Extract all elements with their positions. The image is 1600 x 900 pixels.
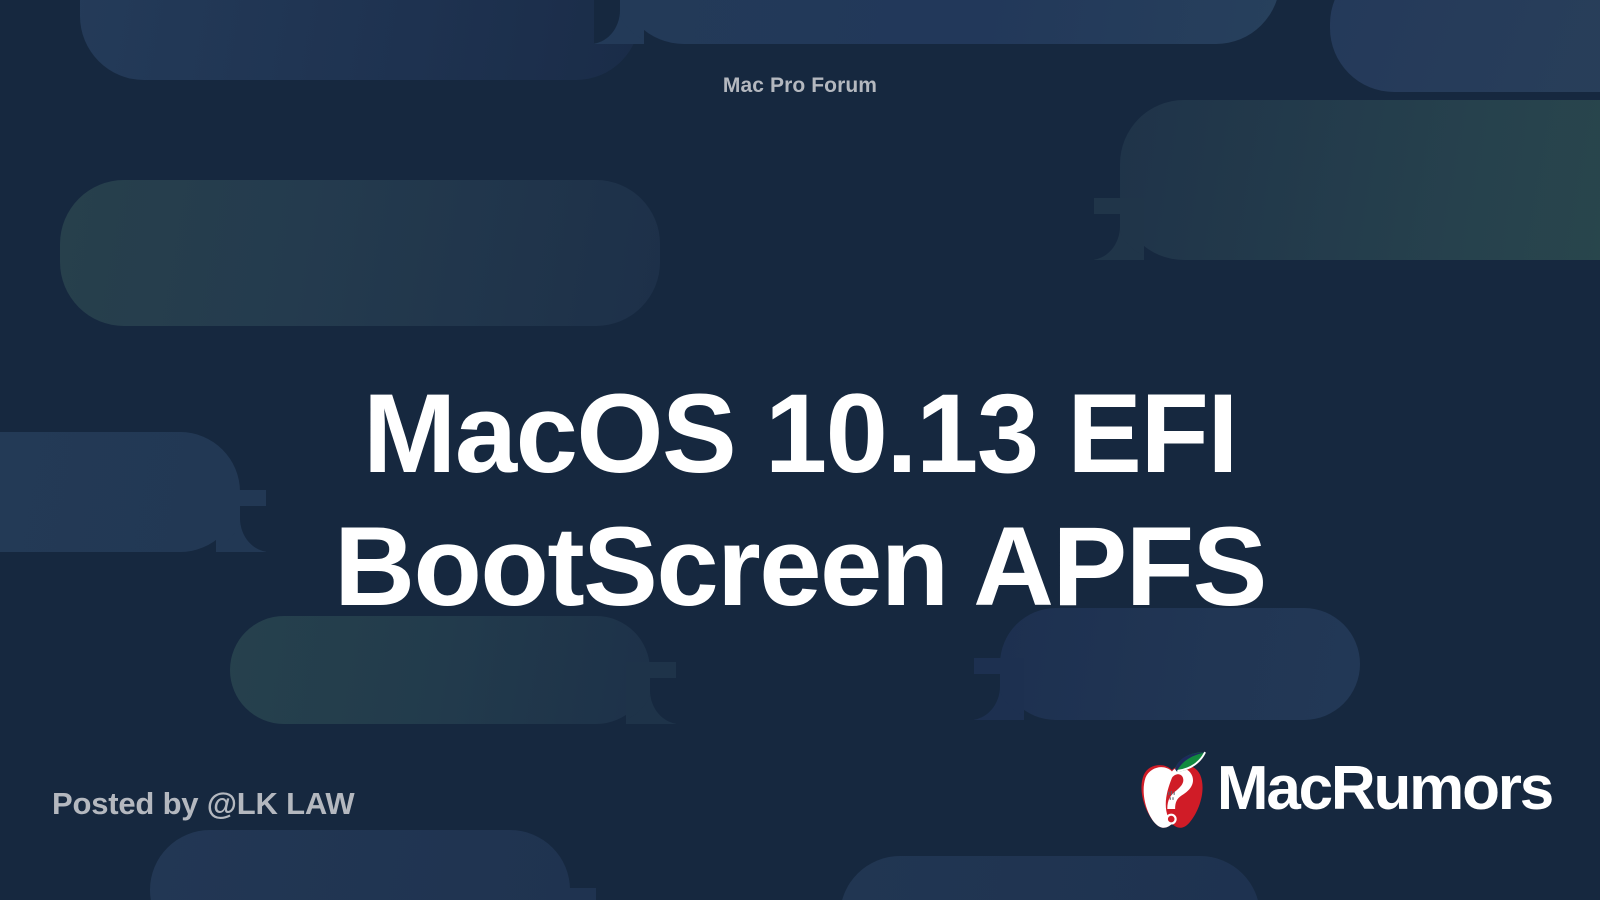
posted-by-label: Posted by @LK LAW: [52, 786, 354, 822]
forum-name-label: Mac Pro Forum: [0, 74, 1600, 98]
card-content: Mac Pro Forum MacOS 10.13 EFI BootScreen…: [0, 0, 1600, 900]
apple-question-mark-icon: [1133, 748, 1211, 834]
macrumors-logo[interactable]: MacRumors: [1133, 748, 1552, 834]
page-title: MacOS 10.13 EFI BootScreen APFS: [110, 367, 1490, 634]
share-card: Mac Pro Forum MacOS 10.13 EFI BootScreen…: [0, 0, 1600, 900]
macrumors-wordmark: MacRumors: [1217, 758, 1552, 824]
